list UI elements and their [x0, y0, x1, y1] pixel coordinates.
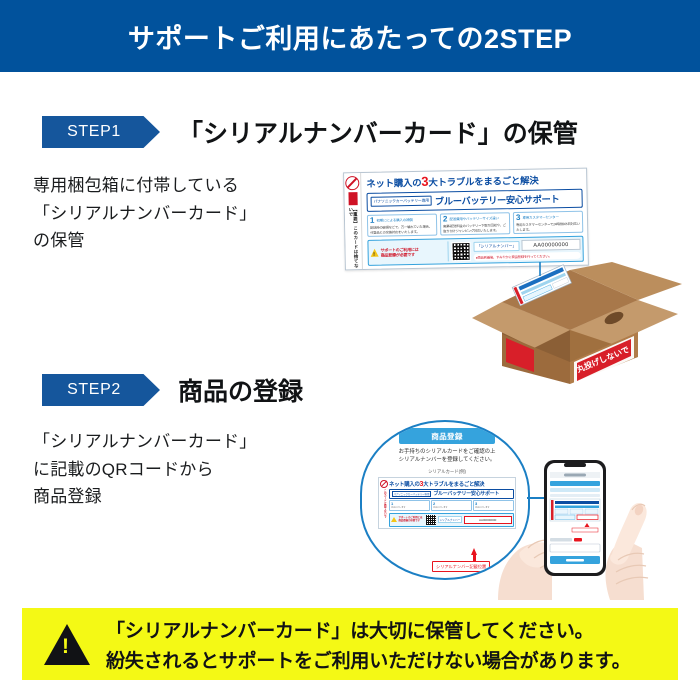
mini-box-number: 1: [391, 502, 428, 506]
mini-card-box: 2 対応いたします: [431, 500, 472, 511]
card-main-area: ネット購入の3大トラブルをまるごと解決 パナソニックカーバッテリー専用 ブルーバ…: [362, 169, 588, 269]
mini-warn-text: サポートのご利用には 商品登録が必要です: [399, 517, 425, 523]
card-box-title: 初期にによる購入の補償: [376, 218, 412, 224]
qr-code-icon: [451, 242, 470, 261]
mini-box-text: 対応いたします: [433, 507, 470, 510]
card-serial-row: 「シリアルナンバー」 AA00000000: [473, 239, 580, 252]
step1-heading: STEP1 「シリアルナンバーカード」の保管: [42, 114, 578, 150]
card-important-strip: 【重要】このカードは捨てないで: [344, 173, 363, 269]
mini-box-text: 対応いたします: [391, 507, 428, 510]
no-throw-icon: [345, 176, 359, 190]
card-box-title: 専用カスタマーセンター: [522, 215, 558, 221]
serial-number-card-image: 【重要】このカードは捨てないで ネット購入の3大トラブルをまるごと解決 パナソニ…: [343, 168, 589, 271]
card-box-text: 廃棄・配送料金のバッテリー下取り回収や、ご取り付けジャンピング対応いたします。: [443, 224, 507, 234]
step1-body-text: 専用梱包箱に付帯している 「シリアルナンバーカード」 の保管: [33, 172, 333, 255]
card-benefit-boxes: 1 初期にによる購入の補償 配送時の破損などで、万一壊れていた場合、代替品との交…: [367, 211, 583, 238]
warning-banner: 「シリアルナンバーカード」は大切に保管してください。 紛失されるとサポートをご利…: [22, 608, 678, 680]
card-serial-label: 「シリアルナンバー」: [473, 241, 519, 252]
card-headline: ネット購入の3大トラブルをまるごと解決: [366, 172, 582, 190]
header-banner: サポートご利用にあたっての2STEP: [0, 0, 700, 72]
step2-body-text: 「シリアルナンバーカード」 に記載のQRコードから 商品登録: [33, 428, 333, 511]
card-box-text: 専用カスタマーセンターで24時間365日対応いたします。: [516, 222, 580, 232]
card-box-head: 2 配送費用やバッテリーサイズ違い: [443, 215, 507, 224]
mini-card-strip-text: このカードは捨てないで: [383, 489, 386, 518]
serial-position-label: シリアルナンバー記載位置: [432, 561, 490, 572]
no-throw-icon: [380, 480, 388, 488]
smartphone-hands-illustration: [492, 448, 700, 600]
mini-sub-tag: パナソニックカーバッテリー専用: [392, 491, 432, 497]
step2-heading: STEP2 商品の登録: [42, 372, 303, 408]
warning-line-2: 紛失されるとサポートをご利用いただけない場合があります。: [106, 646, 631, 673]
card-headline-pre: ネット購入の: [366, 177, 421, 189]
card-box-title: 配送費用やバッテリーサイズ違い: [449, 216, 498, 222]
card-headline-post: 大トラブルをまるごと解決: [428, 175, 538, 188]
strip-accent: [348, 192, 357, 205]
card-benefit-box: 1 初期にによる購入の補償 配送時の破損などで、万一壊れていた場合、代替品との交…: [367, 213, 437, 237]
registration-panel-header: 商品登録: [399, 428, 495, 444]
warning-triangle-icon: [371, 249, 379, 257]
card-serial-block: 「シリアルナンバー」 AA00000000 ●商品到着後、すみやかに商品登録を行…: [473, 239, 580, 261]
step2-badge: STEP2: [42, 374, 160, 406]
mini-box-number: 2: [433, 502, 470, 506]
step2-title: 商品の登録: [178, 372, 303, 408]
qr-code-icon: [426, 515, 436, 525]
card-strip-text: 【重要】このカードは捨てないで: [348, 207, 358, 269]
card-box-number: 1: [370, 217, 375, 225]
warning-triangle-icon: [391, 517, 397, 522]
warning-line-1: 「シリアルナンバーカード」は大切に保管してください。: [106, 616, 631, 643]
card-subtitle-bar: パナソニックカーバッテリー専用 ブルーバッテリー安心サポート: [366, 189, 582, 212]
step1-badge: STEP1: [42, 116, 160, 148]
step1-badge-label: STEP1: [67, 123, 135, 141]
warning-text-block: 「シリアルナンバーカード」は大切に保管してください。 紛失されるとサポートをご利…: [106, 616, 631, 673]
card-note: ●商品到着後、すみやかに商品登録を行ってください。: [474, 252, 581, 261]
mini-serial-label: シリアルナンバー: [438, 516, 463, 523]
card-box-head: 1 初期にによる購入の補償: [370, 216, 434, 225]
card-serial-value: AA00000000: [521, 239, 580, 251]
card-warn-block: サポートのご利用には 商品登録が必要です: [370, 242, 448, 263]
card-benefit-box: 2 配送費用やバッテリーサイズ違い 廃棄・配送料金のバッテリー下取り回収や、ご取…: [440, 212, 510, 236]
required-badge: 必須: [405, 575, 420, 580]
infographic-page: サポートご利用にあたっての2STEP STEP1 「シリアルナンバーカード」の保…: [0, 0, 700, 700]
mini-card-box: 1 対応いたします: [389, 500, 430, 511]
step2-badge-label: STEP2: [67, 381, 135, 399]
card-warn-text: サポートのご利用には 商品登録が必要です: [381, 247, 419, 258]
cardboard-box-illustration: 丸投げしないで: [462, 262, 692, 384]
mini-sub-main: ブルーバッテリー安心サポート: [433, 490, 499, 497]
mini-card-strip: このカードは捨てないで: [381, 480, 388, 527]
serial-position-arrow-stem: [473, 554, 475, 561]
mini-headline-pre: ネット購入の: [389, 482, 420, 488]
page-title: サポートご利用にあたっての2STEP: [128, 17, 572, 56]
exclamation-triangle-icon: [44, 624, 90, 665]
card-box-number: 2: [443, 216, 448, 224]
card-sub-main: ブルーバッテリー安心サポート: [435, 192, 560, 208]
card-box-text: 配送時の破損などで、万一壊れていた場合、代替品との交換対応をいたします。: [370, 225, 434, 235]
card-benefit-box: 3 専用カスタマーセンター 専用カスタマーセンターで24時間365日対応いたしま…: [513, 211, 583, 235]
mini-headline-post: 大トラブルをまるごと解決: [423, 482, 484, 488]
card-sub-tag: パナソニックカーバッテリー専用: [371, 196, 433, 207]
step1-title: 「シリアルナンバーカード」の保管: [178, 114, 578, 150]
card-box-head: 3 専用カスタマーセンター: [516, 213, 580, 222]
card-box-number: 3: [516, 214, 521, 222]
serial-field-label: ナンバー: [376, 574, 402, 580]
